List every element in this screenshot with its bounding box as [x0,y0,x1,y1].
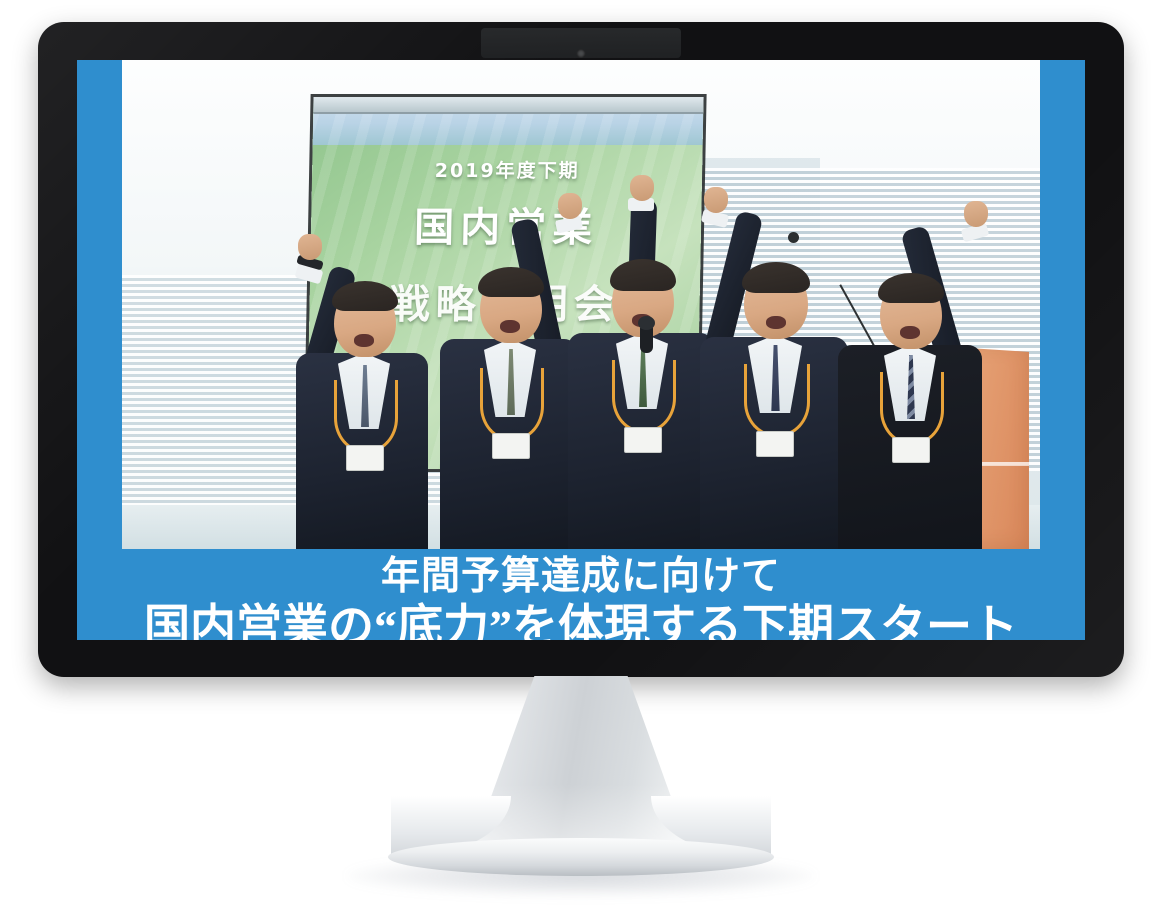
person-5 [812,229,1022,549]
open-mouth [766,316,786,329]
name-badge [892,437,930,463]
monitor-device: 2019年度下期 国内営業 戦略説明会 [0,0,1162,907]
raised-fist [964,201,988,227]
lanyard [612,360,676,433]
caption-band: 年間予算達成に向けて 国内営業の“底力”を体現する下期スタート [77,549,1085,640]
monitor-stand-neck [475,676,687,856]
hair [332,281,398,311]
monitor-stand-base [388,838,774,876]
caption-line-2: 国内営業の“底力”を体現する下期スタート [77,596,1085,640]
lanyard [744,364,810,437]
open-mouth [354,334,374,347]
name-badge [756,431,794,457]
lanyard [334,380,398,453]
raised-fist [298,234,322,260]
caption-line-1: 年間予算達成に向けて [77,549,1085,596]
name-badge [492,433,530,459]
hair [610,259,676,291]
monitor-bezel: 2019年度下期 国内営業 戦略説明会 [38,22,1124,677]
conference-photo: 2019年度下期 国内営業 戦略説明会 [122,60,1040,549]
open-mouth [500,320,520,333]
name-badge [346,445,384,471]
monitor-screen[interactable]: 2019年度下期 国内営業 戦略説明会 [77,60,1085,640]
people-group [122,60,1040,549]
raised-fist [704,187,728,213]
screen-content: 2019年度下期 国内営業 戦略説明会 [77,60,1085,640]
lanyard [880,372,944,445]
open-mouth [900,326,920,339]
webcam-icon [577,49,586,58]
raised-fist [630,175,654,201]
hair [742,262,810,293]
screenshot-stage: 2019年度下期 国内営業 戦略説明会 [0,0,1162,907]
lanyard [480,368,544,441]
name-badge [624,427,662,453]
handheld-microphone-icon [640,323,653,353]
